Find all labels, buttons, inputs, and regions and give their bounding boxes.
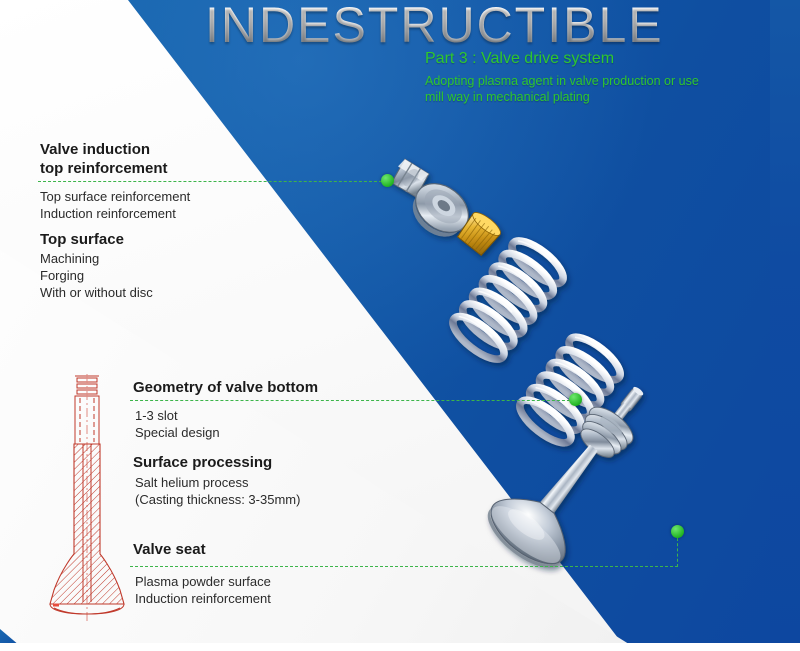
callout-heading-valve-induction-top-reinforcement: Valve induction top reinforcement xyxy=(40,140,168,178)
page-title: INDESTRUCTIBLE xyxy=(205,0,664,54)
leader-line-bottom-riser xyxy=(677,538,678,567)
page-subtitle-note: Adopting plasma agent in valve productio… xyxy=(425,73,705,105)
leader-line-middle xyxy=(130,400,575,401)
page-subtitle: Part 3 : Valve drive system xyxy=(425,50,614,68)
bottom-margin xyxy=(0,643,800,651)
callout-heading-surface-processing: Surface processing xyxy=(133,453,272,472)
callout-heading-valve-seat: Valve seat xyxy=(133,540,206,559)
marker-dot-valve-top[interactable] xyxy=(381,174,394,187)
callout-items-surface-processing: Salt helium process (Casting thickness: … xyxy=(135,474,300,508)
marker-dot-valve-head[interactable] xyxy=(671,525,684,538)
background-right-strip xyxy=(770,0,800,651)
callout-heading-geometry-of-valve-bottom: Geometry of valve bottom xyxy=(133,378,318,397)
callout-items-geometry-of-valve-bottom: 1-3 slot Special design xyxy=(135,407,220,441)
valve-cross-section-wireframe xyxy=(44,372,130,624)
callout-items-top-surface: Machining Forging With or without disc xyxy=(40,250,153,301)
leader-line-bottom xyxy=(130,566,678,567)
callout-heading-top-surface: Top surface xyxy=(40,230,124,249)
callout-items-valve-induction-top-reinforcement: Top surface reinforcement Induction rein… xyxy=(40,188,190,222)
callout-items-valve-seat: Plasma powder surface Induction reinforc… xyxy=(135,573,271,607)
infographic-canvas: INDESTRUCTIBLE Part 3 : Valve drive syst… xyxy=(0,0,800,651)
marker-dot-valve-stem[interactable] xyxy=(569,393,582,406)
leader-line-top xyxy=(38,181,387,182)
